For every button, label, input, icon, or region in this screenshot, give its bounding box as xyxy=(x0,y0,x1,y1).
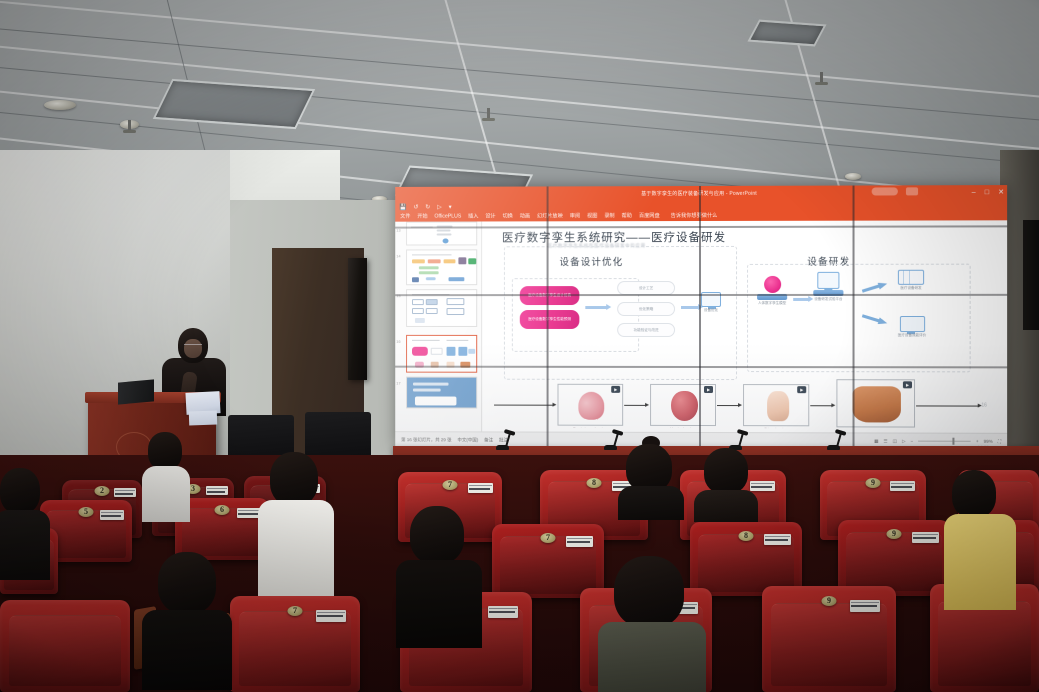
start-slideshow-icon[interactable]: ▷ xyxy=(437,204,442,211)
anatomy-card-torso: ▶ xyxy=(836,379,915,427)
play-badge-icon-2[interactable]: ▶ xyxy=(704,386,713,393)
zoom-out-icon[interactable]: − xyxy=(911,439,914,444)
person-body xyxy=(618,486,684,520)
person-body xyxy=(142,466,190,522)
smoke-detector-icon-4 xyxy=(845,173,861,180)
human-digital-twin-model: 人体数字孪生模型 xyxy=(757,276,787,306)
customize-icon[interactable]: ▾ xyxy=(449,204,452,211)
stage-chair-2 xyxy=(305,412,371,458)
handout-papers-lower xyxy=(189,411,217,426)
seat-number-7: 7 xyxy=(443,480,458,490)
fit-to-window-icon[interactable]: ⛶ xyxy=(998,439,1001,444)
seat-number-7-near: 7 xyxy=(541,533,556,543)
platform-icon xyxy=(817,272,839,289)
presenter-face xyxy=(184,339,202,358)
ribbon-tab-1[interactable]: 开始 xyxy=(417,213,427,220)
sprinkler-head-icon-2 xyxy=(820,72,823,84)
minimize-icon[interactable]: – xyxy=(972,189,976,196)
ribbon-tab-4[interactable]: 设计 xyxy=(485,212,495,219)
ribbon-tab-9[interactable]: 视图 xyxy=(587,212,597,219)
zoom-slider-thumb[interactable] xyxy=(953,438,955,445)
seat-number-7-front: 7 xyxy=(288,606,303,616)
ghost-design-process: 设计工艺 xyxy=(617,281,675,295)
ribbon-tab-8[interactable]: 审阅 xyxy=(570,212,580,219)
seat-front-row-10[interactable]: 9 xyxy=(762,586,896,692)
microphone-base-4 xyxy=(827,445,840,450)
chain-line-0 xyxy=(494,405,553,406)
zoom-in-icon[interactable]: + xyxy=(976,439,979,444)
seat-number-9-front-b: 9 xyxy=(822,596,837,606)
seat-tag xyxy=(206,486,228,495)
ribbon-tab-11[interactable]: 帮助 xyxy=(622,212,632,219)
ribbon-tab-2[interactable]: OfficePLUS xyxy=(434,213,461,219)
source-caption: 人体数字孪生模型 xyxy=(758,301,786,306)
seat-tag xyxy=(850,600,880,612)
eval-monitor-icon xyxy=(899,316,924,332)
seat-tag xyxy=(316,610,346,622)
platform-caption: 设备研发试验平台 xyxy=(814,297,842,302)
play-badge-icon-4[interactable]: ▶ xyxy=(903,381,912,388)
ghost-function-validate: 功能验证与改进 xyxy=(617,323,675,337)
ribbon-tab-5[interactable]: 切换 xyxy=(503,212,513,219)
close-icon[interactable]: ✕ xyxy=(998,189,1004,196)
seat-front-left[interactable] xyxy=(0,600,130,692)
ceiling-light-panel-3 xyxy=(747,20,826,47)
laptop xyxy=(118,379,154,404)
account-pill[interactable] xyxy=(872,187,898,195)
seat-number-6: 6 xyxy=(215,505,230,515)
anatomy-caption-heart: Heart subsystem xyxy=(650,427,716,429)
smoke-detector-icon xyxy=(44,100,76,110)
person-head xyxy=(614,556,684,628)
person-body xyxy=(694,490,758,522)
right-wall-panel xyxy=(1023,220,1039,330)
reading-view-icon[interactable]: ◫ xyxy=(893,438,897,444)
tell-me-box[interactable]: 告诉我你想要做什么 xyxy=(671,212,718,219)
ribbon-tab-6[interactable]: 动画 xyxy=(520,212,530,219)
arrow-left-1 xyxy=(585,306,607,309)
ghost-optimize-strategy: 优化策略 xyxy=(617,302,675,316)
led-video-wall[interactable]: 基于数字孪生的医疗装备研发与应用 - PowerPoint – □ ✕ 💾 ↺ … xyxy=(395,185,1007,449)
person-body xyxy=(944,514,1016,610)
active-slide[interactable]: 医疗数字孪生系统研究——医疗设备研发 医疗数字孪生系统在医疗设备研发中的应用 设… xyxy=(486,223,1003,428)
lecture-hall-photo: 基于数字孪生的医疗装备研发与应用 - PowerPoint – □ ✕ 💾 ↺ … xyxy=(0,0,1039,692)
person-head xyxy=(270,452,318,506)
output-efficacy-eval: 医疗设备效能评价 xyxy=(898,316,926,338)
person-body xyxy=(142,610,232,690)
person-head xyxy=(410,506,464,564)
person-head xyxy=(158,552,216,614)
seat-front-row-7[interactable]: 7 xyxy=(230,596,360,692)
person-head xyxy=(952,470,996,518)
seat-tag xyxy=(912,532,939,543)
play-badge-icon-3[interactable]: ▶ xyxy=(797,386,806,393)
seat-tag xyxy=(114,488,136,497)
rd-test-platform: 设备研发试验平台 xyxy=(813,272,843,302)
microphone-base-2 xyxy=(604,445,617,450)
seat-tag xyxy=(890,481,915,491)
ribbon-tab-7[interactable]: 幻灯片放映 xyxy=(537,212,563,219)
output-caption: 设备优化 xyxy=(704,308,718,313)
redo-icon[interactable]: ↻ xyxy=(425,204,430,211)
slide-number: 16 xyxy=(981,403,987,409)
seat-number-2: 2 xyxy=(95,486,110,496)
brain-icon xyxy=(764,276,781,293)
zoom-level[interactable]: 99% xyxy=(984,439,993,444)
seat-number-5: 5 xyxy=(79,507,94,517)
anatomy-card-hand: ▶ xyxy=(743,384,809,426)
seat-near-row-c[interactable]: 9 xyxy=(838,520,950,596)
ribbon-tab-bar[interactable]: 文件 开始 OfficePLUS 插入 设计 切换 动画 幻灯片放映 审阅 视图… xyxy=(395,209,1007,221)
seat-tag xyxy=(468,483,493,493)
output2-caption: 医疗设备效能评价 xyxy=(898,333,926,338)
undo-icon[interactable]: ↺ xyxy=(413,204,418,211)
output1-caption: 医疗设备研发 xyxy=(900,286,921,291)
play-badge-icon[interactable]: ▶ xyxy=(611,386,620,393)
language-indicator[interactable]: 中文(中国) xyxy=(457,437,478,443)
seat-tag xyxy=(100,510,124,520)
notes-button[interactable]: 备注 xyxy=(484,437,493,443)
person-head xyxy=(148,432,182,470)
sprinkler-head-icon xyxy=(487,108,490,120)
thumbnail-number-16: 16 xyxy=(396,339,400,344)
anatomy-caption-hand: Skin subsystem xyxy=(743,427,809,429)
person-body xyxy=(396,560,482,648)
seat-near-row-a[interactable]: 7 xyxy=(492,524,604,598)
seat-number-8-near: 8 xyxy=(739,531,754,541)
sorter-view-icon[interactable]: ☰ xyxy=(884,438,888,444)
restore-icon[interactable]: □ xyxy=(985,189,989,196)
chain-line-3 xyxy=(810,405,832,406)
wall-speaker-icon xyxy=(348,258,367,380)
thumbnail-slide-14[interactable] xyxy=(406,249,477,285)
ribbon-tab-10[interactable]: 录制 xyxy=(604,212,614,219)
ceiling-light-panel xyxy=(153,79,315,129)
seat-tag xyxy=(566,536,593,547)
anatomy-card-heart: ▶ xyxy=(650,384,716,426)
thumbnail-slide-13[interactable] xyxy=(406,221,477,245)
microphone-base-1 xyxy=(496,445,509,450)
chain-line-4 xyxy=(916,405,979,406)
seat-number-9-near: 9 xyxy=(887,529,902,539)
thumbnail-slide-17[interactable] xyxy=(406,377,477,409)
seat-tag xyxy=(764,534,791,545)
share-button[interactable] xyxy=(906,187,918,195)
powerpoint-title-bar: 基于数字孪生的医疗装备研发与应用 - PowerPoint – □ ✕ xyxy=(395,185,1007,202)
window-controls[interactable]: – □ ✕ xyxy=(972,185,1004,200)
thumbnail-number-17: 17 xyxy=(396,381,400,386)
pill-performance-prediction: 医疗设备数字孪生性能预测 xyxy=(520,310,580,329)
ribbon-tab-3[interactable]: 插入 xyxy=(468,213,478,220)
seat-number-8: 8 xyxy=(587,478,602,488)
seat-tag xyxy=(488,606,518,618)
anatomy-card-lungs: ▶ xyxy=(557,384,623,426)
wall-seam-h2 xyxy=(395,294,1007,296)
person-head xyxy=(0,468,40,514)
output-device-rd: 医疗设备研发 xyxy=(898,270,924,291)
chain-line-1 xyxy=(624,405,646,406)
slide-indicator: 第 16 张幻灯片，共 29 张 xyxy=(401,437,451,443)
person-body xyxy=(598,622,706,692)
arrow-right-1 xyxy=(793,298,809,301)
arrow-left-2 xyxy=(681,306,699,309)
thumbnail-number-14: 14 xyxy=(396,253,400,258)
seat-number-9: 9 xyxy=(866,478,881,488)
chain-line-2 xyxy=(717,405,739,406)
glasses-icon xyxy=(184,344,202,348)
save-icon[interactable]: 💾 xyxy=(399,204,406,211)
seat-tag xyxy=(750,481,775,491)
slideshow-icon[interactable]: ▷ xyxy=(902,438,906,444)
person-body xyxy=(258,500,334,596)
zoom-slider[interactable] xyxy=(918,441,971,442)
person-body xyxy=(0,510,50,580)
ribbon-tab-12[interactable]: 百度网盘 xyxy=(639,212,660,219)
chart-icon xyxy=(898,270,924,285)
ribbon-tab-0[interactable]: 文件 xyxy=(400,213,410,220)
seat-near-row-b[interactable]: 8 xyxy=(690,522,802,596)
slide-thumbnail-pane[interactable]: 13 14 xyxy=(395,221,482,431)
sprinkler-head-icon-3 xyxy=(128,120,131,132)
normal-view-icon[interactable]: ▦ xyxy=(874,438,878,444)
person-head xyxy=(704,448,748,494)
person-head xyxy=(626,444,672,492)
